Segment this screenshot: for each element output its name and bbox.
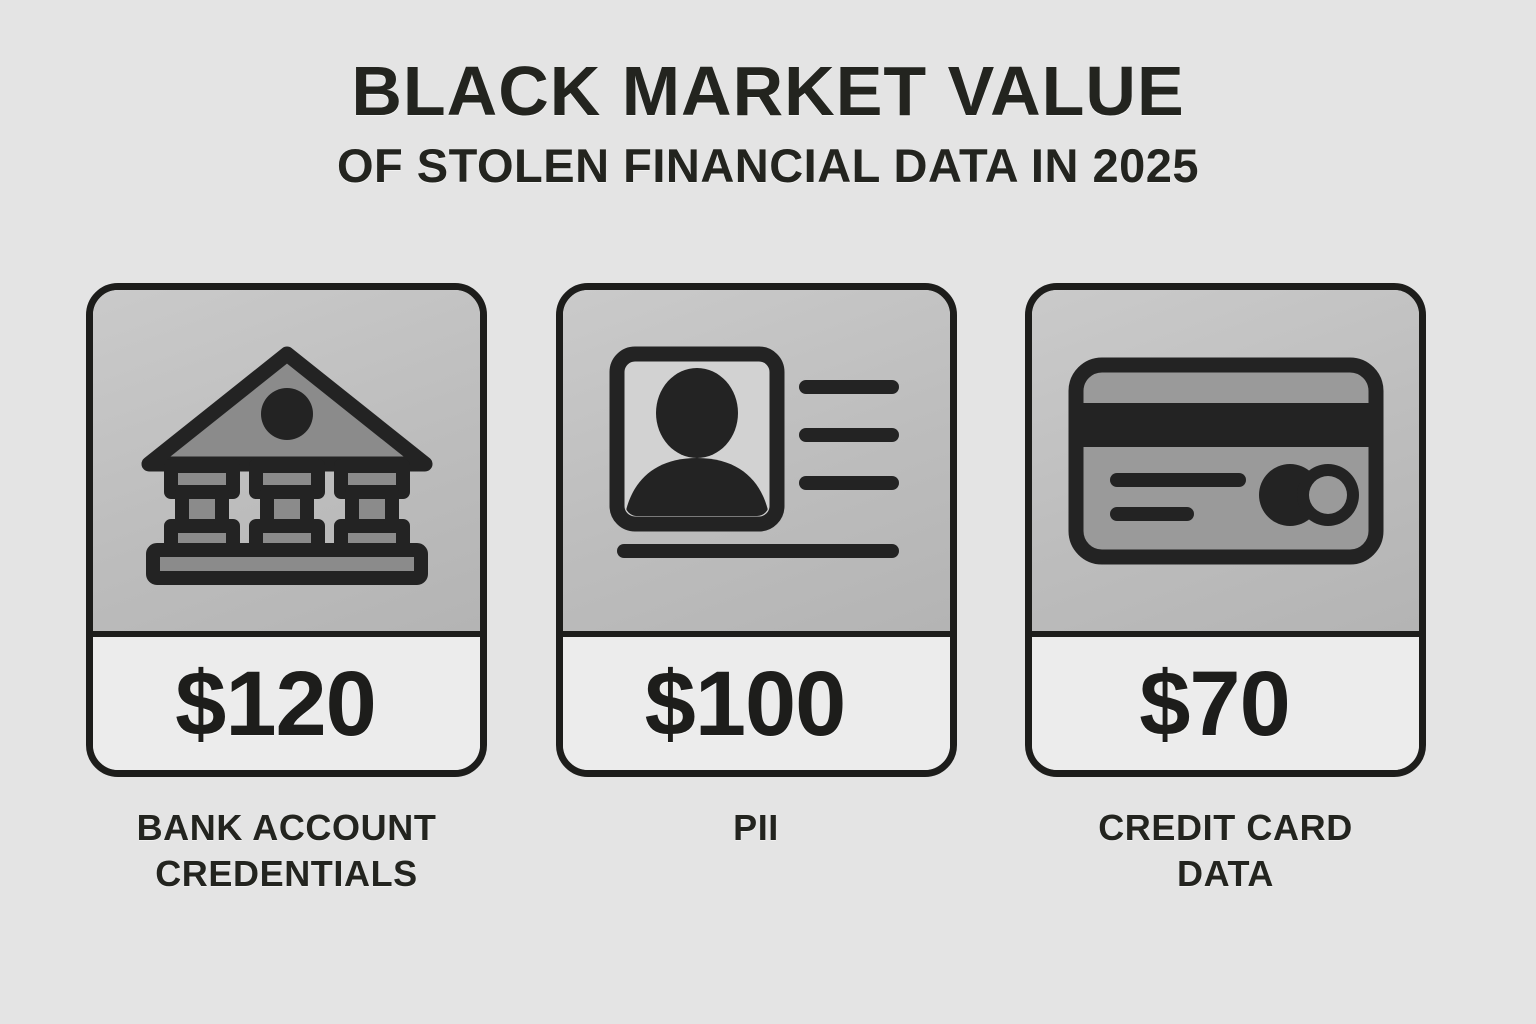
price-value: $70 bbox=[1139, 658, 1290, 750]
caption-line-2: CREDENTIALS bbox=[86, 851, 487, 897]
value-card-credit-card[interactable]: $70 bbox=[1025, 283, 1426, 777]
page-subtitle: OF STOLEN FINANCIAL DATA IN 2025 bbox=[0, 141, 1536, 190]
bank-icon bbox=[137, 336, 437, 586]
price-value: $100 bbox=[645, 658, 846, 750]
credit-card-icon bbox=[1066, 355, 1386, 567]
caption-line-2: DATA bbox=[1025, 851, 1426, 897]
card-price-area-credit-card: $70 bbox=[1032, 637, 1419, 770]
caption-line-1: BANK ACCOUNT bbox=[86, 805, 487, 851]
caption-pii: PII bbox=[556, 805, 957, 897]
caption-line-1: PII bbox=[556, 805, 957, 851]
card-icon-area-bank bbox=[93, 290, 480, 637]
value-cards-row: $120 bbox=[86, 283, 1426, 777]
caption-credit-card: CREDIT CARD DATA bbox=[1025, 805, 1426, 897]
price-value: $120 bbox=[175, 658, 376, 750]
caption-bank-account: BANK ACCOUNT CREDENTIALS bbox=[86, 805, 487, 897]
card-price-area-bank: $120 bbox=[93, 637, 480, 770]
id-card-icon bbox=[601, 336, 911, 586]
card-price-area-pii: $100 bbox=[563, 637, 950, 770]
title-block: BLACK MARKET VALUE OF STOLEN FINANCIAL D… bbox=[0, 56, 1536, 191]
value-card-pii[interactable]: $100 bbox=[556, 283, 957, 777]
card-icon-area-pii bbox=[563, 290, 950, 637]
card-icon-area-credit-card bbox=[1032, 290, 1419, 637]
captions-row: BANK ACCOUNT CREDENTIALS PII CREDIT CARD… bbox=[86, 805, 1426, 897]
caption-line-1: CREDIT CARD bbox=[1025, 805, 1426, 851]
value-card-bank-account[interactable]: $120 bbox=[86, 283, 487, 777]
page-title: BLACK MARKET VALUE bbox=[0, 56, 1536, 127]
